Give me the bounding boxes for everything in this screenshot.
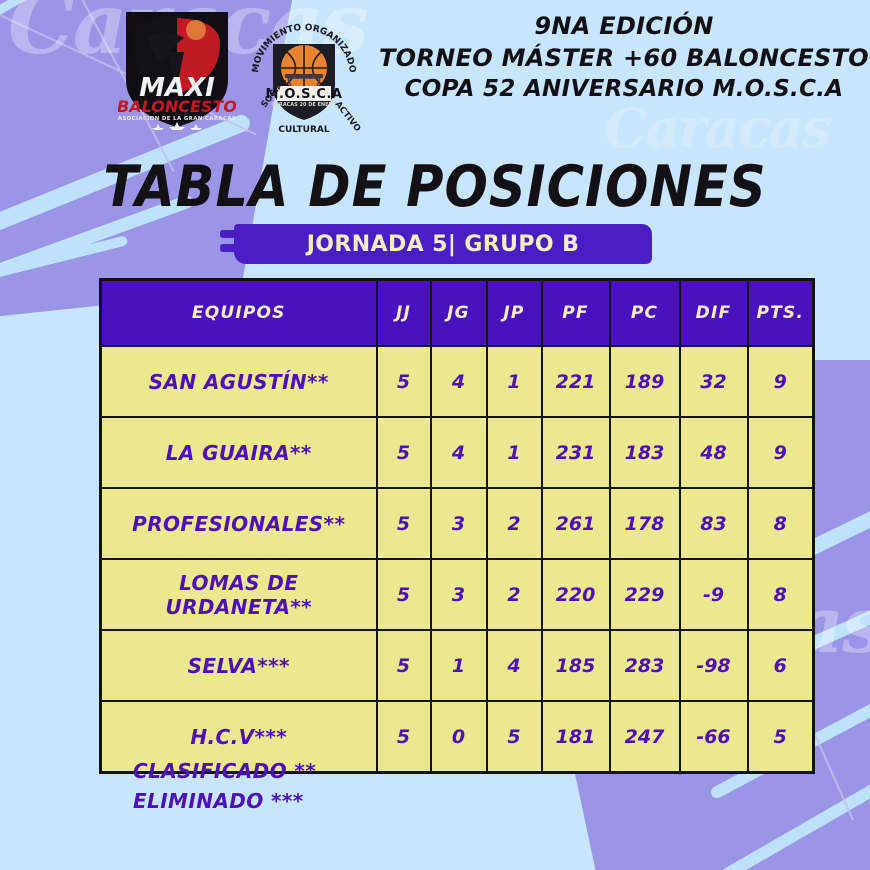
standings-table-wrapper: EQUIPOS JJ JG JP PF PC DIF PTS. SAN AGUS…	[99, 278, 812, 774]
event-tournament: TORNEO MÁSTER +60 BALONCESTO	[378, 42, 870, 74]
table-row: LOMAS DE URDANETA** 5 3 2 220 229 -9 8	[101, 559, 814, 630]
team-name: LOMAS DE URDANETA**	[101, 559, 377, 630]
cell-jg: 4	[431, 417, 487, 488]
cell-pf: 221	[542, 346, 610, 417]
cell-pc: 283	[610, 630, 680, 701]
column-header-pc: PC	[610, 280, 680, 347]
team-name: PROFESIONALES**	[101, 488, 377, 559]
column-header-pts: PTS.	[748, 280, 814, 347]
column-header-pf: PF	[542, 280, 610, 347]
mosca-logo: MOVIMIENTO ORGANIZADO M.O.S.C.A CARACAS …	[243, 12, 365, 134]
team-name: LA GUAIRA**	[101, 417, 377, 488]
column-header-jj: JJ	[377, 280, 431, 347]
table-header-row: EQUIPOS JJ JG JP PF PC DIF PTS.	[101, 280, 814, 347]
cell-jj: 5	[377, 630, 431, 701]
legend-clasificado: CLASIFICADO **	[133, 756, 316, 786]
table-row: LA GUAIRA** 5 4 1 231 183 48 9	[101, 417, 814, 488]
cell-dif: 83	[680, 488, 748, 559]
poster-canvas: Caracas Caracas Caracas MAXI BALONCESTO …	[0, 0, 870, 870]
cell-pts: 6	[748, 630, 814, 701]
event-edition: 9NA EDICIÓN	[378, 10, 870, 42]
cell-jp: 5	[487, 701, 542, 773]
cell-pc: 183	[610, 417, 680, 488]
cell-jp: 2	[487, 488, 542, 559]
cell-pf: 220	[542, 559, 610, 630]
cell-jg: 3	[431, 488, 487, 559]
cell-jg: 0	[431, 701, 487, 773]
maxi-baloncesto-logo: MAXI BALONCESTO ASOCIACION DE LA GRAN CA…	[118, 8, 236, 130]
brush-stroke	[719, 782, 870, 870]
cell-pc: 229	[610, 559, 680, 630]
cell-jj: 5	[377, 701, 431, 773]
event-title-block: 9NA EDICIÓN TORNEO MÁSTER +60 BALONCESTO…	[378, 10, 870, 105]
cell-jj: 5	[377, 417, 431, 488]
column-header-dif: DIF	[680, 280, 748, 347]
banner-label: JORNADA 5| GRUPO B	[234, 224, 652, 264]
table-row: SELVA*** 5 1 4 185 283 -98 6	[101, 630, 814, 701]
table-row: PROFESIONALES** 5 3 2 261 178 83 8	[101, 488, 814, 559]
legend-eliminado: ELIMINADO ***	[133, 786, 316, 816]
cell-jg: 4	[431, 346, 487, 417]
cell-jp: 4	[487, 630, 542, 701]
page-title: TABLA DE POSICIONES	[0, 154, 870, 220]
cell-jp: 1	[487, 346, 542, 417]
cell-pc: 189	[610, 346, 680, 417]
cell-pf: 261	[542, 488, 610, 559]
cell-pts: 9	[748, 417, 814, 488]
svg-text:ASOCIACION DE LA GRAN CARACAS: ASOCIACION DE LA GRAN CARACAS	[118, 116, 236, 122]
cell-dif: -98	[680, 630, 748, 701]
cell-jj: 5	[377, 346, 431, 417]
cell-pf: 185	[542, 630, 610, 701]
cell-jg: 1	[431, 630, 487, 701]
team-name: SAN AGUSTÍN**	[101, 346, 377, 417]
cell-pts: 8	[748, 559, 814, 630]
svg-text:CULTURAL: CULTURAL	[278, 125, 330, 134]
cell-jp: 1	[487, 417, 542, 488]
cell-dif: 48	[680, 417, 748, 488]
cell-jj: 5	[377, 488, 431, 559]
svg-text:CARACAS 20 DE ENERO: CARACAS 20 DE ENERO	[271, 102, 336, 108]
cell-pts: 5	[748, 701, 814, 773]
column-header-jp: JP	[487, 280, 542, 347]
cell-dif: -66	[680, 701, 748, 773]
svg-text:ACTIVO: ACTIVO	[333, 100, 363, 134]
standings-table: EQUIPOS JJ JG JP PF PC DIF PTS. SAN AGUS…	[99, 278, 815, 774]
team-name: SELVA***	[101, 630, 377, 701]
jornada-banner: JORNADA 5| GRUPO B	[0, 222, 870, 268]
cell-jp: 2	[487, 559, 542, 630]
cell-pts: 8	[748, 488, 814, 559]
cell-pf: 181	[542, 701, 610, 773]
cell-pf: 231	[542, 417, 610, 488]
cell-pc: 247	[610, 701, 680, 773]
cell-pts: 9	[748, 346, 814, 417]
event-cup: COPA 52 ANIVERSARIO M.O.S.C.A	[378, 74, 870, 105]
poster-header: MAXI BALONCESTO ASOCIACION DE LA GRAN CA…	[0, 0, 870, 140]
cell-jj: 5	[377, 559, 431, 630]
cell-pc: 178	[610, 488, 680, 559]
cell-dif: 32	[680, 346, 748, 417]
cell-jg: 3	[431, 559, 487, 630]
cell-dif: -9	[680, 559, 748, 630]
legend: CLASIFICADO ** ELIMINADO ***	[133, 756, 316, 816]
svg-text:BALONCESTO: BALONCESTO	[118, 97, 236, 116]
column-header-jg: JG	[431, 280, 487, 347]
column-header-equipos: EQUIPOS	[101, 280, 377, 347]
table-row: SAN AGUSTÍN** 5 4 1 221 189 32 9	[101, 346, 814, 417]
